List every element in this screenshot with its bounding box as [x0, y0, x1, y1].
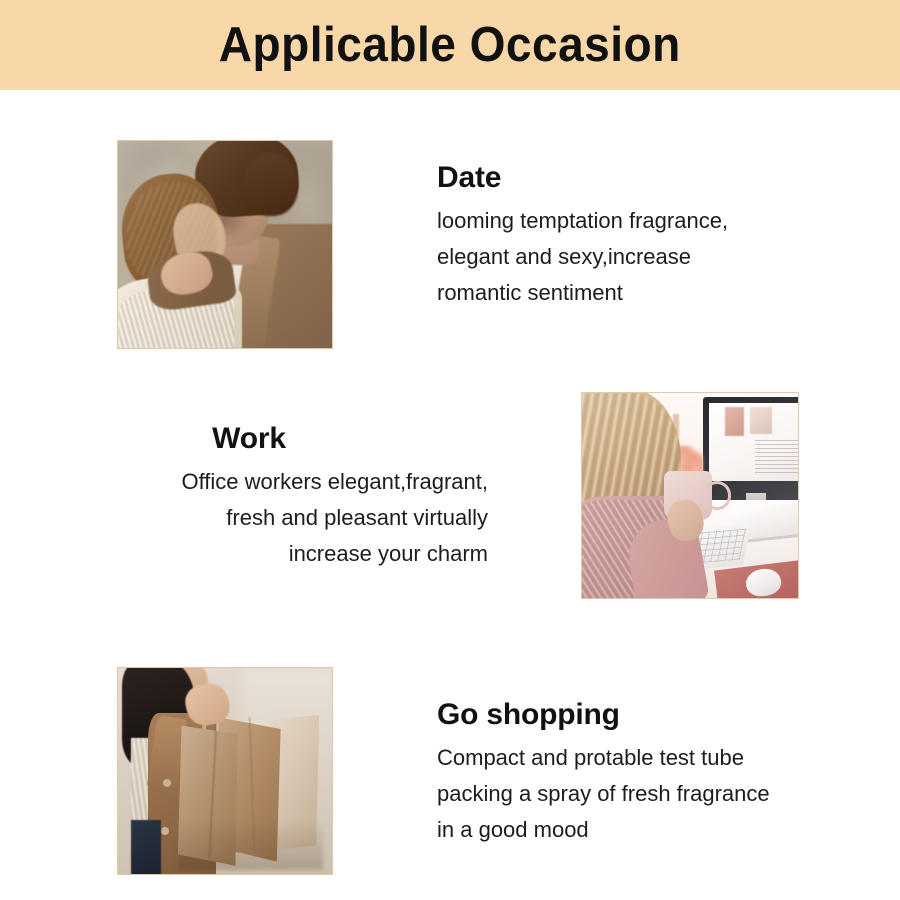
- section-body-line: Office workers elegant,fragrant,: [88, 464, 488, 500]
- coat-button: [161, 827, 170, 835]
- section-body-line: in a good mood: [437, 812, 837, 848]
- couple-embracing-photo: [118, 141, 332, 348]
- header-banner: Applicable Occasion: [0, 0, 900, 90]
- section-title-work: Work: [88, 422, 488, 455]
- section-date: Date looming temptation fragrance, elega…: [437, 161, 837, 311]
- man-hair-shape: [242, 153, 298, 215]
- screen-thumbnail: [725, 407, 744, 436]
- section-body-line: increase your charm: [88, 536, 488, 572]
- section-body-line: romantic sentiment: [437, 275, 837, 311]
- page-title: Applicable Occasion: [219, 17, 681, 73]
- mug-handle-shape: [703, 481, 731, 510]
- section-body-date: looming temptation fragrance, elegant an…: [437, 203, 837, 311]
- section-body-line: looming temptation fragrance,: [437, 203, 837, 239]
- section-title-date: Date: [437, 161, 837, 194]
- section-body-line: Compact and protable test tube: [437, 740, 837, 776]
- bag-shadow: [178, 820, 324, 869]
- section-body-work: Office workers elegant,fragrant, fresh a…: [88, 464, 488, 572]
- woman-with-shopping-bags-photo: [118, 668, 332, 874]
- section-body-shopping: Compact and protable test tube packing a…: [437, 740, 837, 848]
- section-work: Work Office workers elegant,fragrant, fr…: [88, 422, 488, 572]
- section-title-shopping: Go shopping: [437, 698, 837, 731]
- section-shopping: Go shopping Compact and protable test tu…: [437, 698, 837, 848]
- section-body-line: elegant and sexy,increase: [437, 239, 837, 275]
- jeans-shape: [131, 820, 161, 874]
- screen-text-lines: [755, 440, 798, 473]
- section-body-line: fresh and pleasant virtually: [88, 500, 488, 536]
- woman-at-desk-photo: [582, 393, 798, 598]
- screen-thumbnail: [750, 407, 772, 434]
- section-body-line: packing a spray of fresh fragrance: [437, 776, 837, 812]
